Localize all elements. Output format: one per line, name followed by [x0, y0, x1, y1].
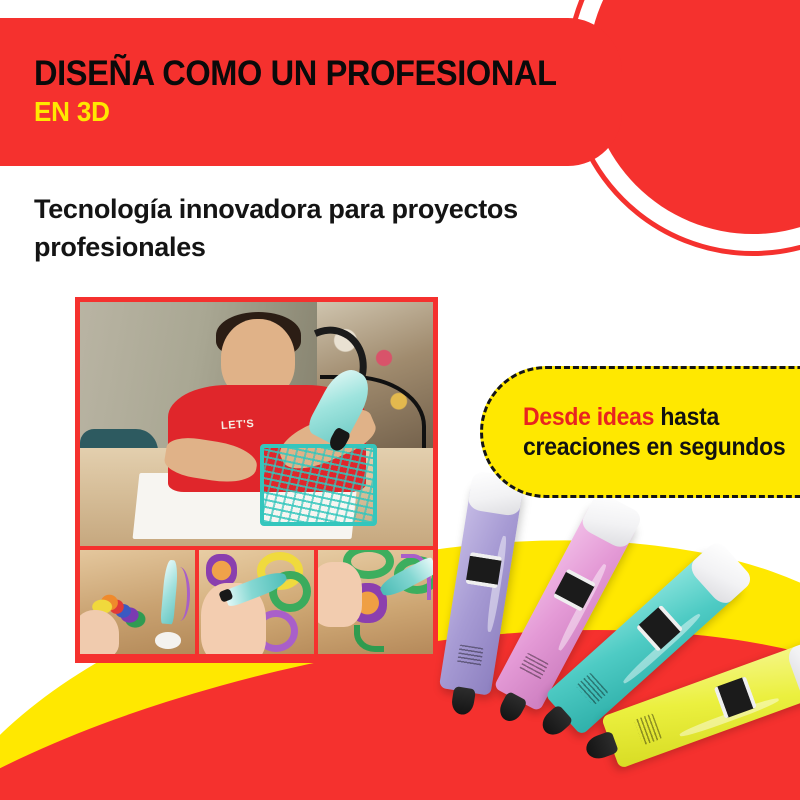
- header-banner: DISEÑA COMO UN PROFESIONAL EN 3D: [0, 18, 622, 166]
- photo-shirt-text: LET'S: [221, 418, 255, 432]
- photo-3d-printed-model: [260, 444, 376, 527]
- pen-purple-display: [466, 552, 502, 588]
- flower-creation-photo: [318, 550, 433, 654]
- callout-accent-text: Desde ideas: [523, 403, 654, 431]
- poster-title-line1: DISEÑA COMO UN PROFESIONAL: [34, 56, 581, 93]
- thumb3-hand: [318, 562, 362, 626]
- boy-using-3d-pen-photo: LET'S: [80, 302, 433, 546]
- photo-collage: LET'S: [75, 297, 438, 663]
- thumbnail-row: [80, 550, 433, 654]
- pen-purple-grip: [457, 644, 485, 667]
- hand-holding-pen-photo: [199, 550, 314, 654]
- poster-subtitle: Tecnología innovadora para proyectos pro…: [34, 190, 554, 267]
- callout-line-2: creaciones en segundos: [523, 432, 800, 463]
- thumb1-pen-stand: [155, 632, 181, 649]
- filament-coils-photo: [80, 550, 195, 654]
- callout-line1-rest: hasta: [654, 403, 719, 431]
- promotional-poster: DISEÑA COMO UN PROFESIONAL EN 3D Tecnolo…: [0, 0, 800, 800]
- callout-badge: Desde ideas hasta creaciones en segundos: [480, 366, 800, 498]
- callout-line-1: Desde ideas hasta: [523, 402, 800, 433]
- poster-title-line2: EN 3D: [34, 97, 581, 128]
